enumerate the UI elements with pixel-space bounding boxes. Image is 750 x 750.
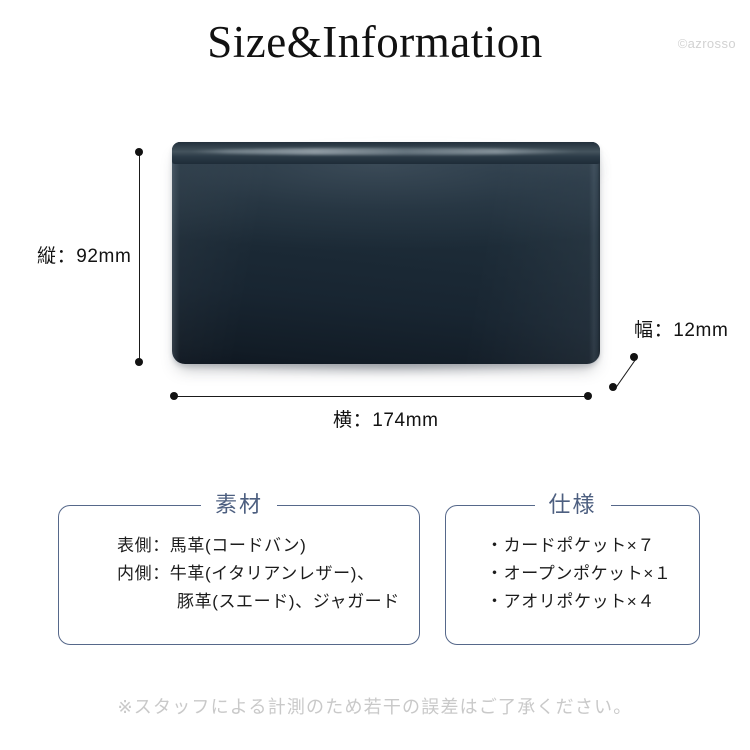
materials-title: 素材 bbox=[201, 490, 277, 520]
materials-list: 表側：馬革(コードバン) 内側：牛革(イタリアンレザー)、 豚革(スエード)、ジ… bbox=[59, 532, 425, 616]
wallet-fold-highlight bbox=[189, 148, 583, 155]
specs-line-3: ・アオリポケット×４ bbox=[446, 588, 699, 616]
wallet-body bbox=[172, 142, 600, 364]
materials-box: 素材 表側：馬革(コードバン) 内側：牛革(イタリアンレザー)、 豚革(スエード… bbox=[58, 505, 420, 645]
wallet-side-facet bbox=[589, 146, 600, 364]
specs-list: ・カードポケット×７ ・オープンポケット×１ ・アオリポケット×４ bbox=[446, 532, 699, 616]
specs-line-1: ・カードポケット×７ bbox=[446, 532, 699, 560]
materials-line-2: 内側：牛革(イタリアンレザー)、 bbox=[65, 560, 425, 588]
height-guide-dot-top bbox=[135, 148, 143, 156]
depth-guide-dot-near bbox=[609, 383, 617, 391]
measurement-disclaimer: ※スタッフによる計測のため若干の誤差はご了承ください。 bbox=[0, 694, 750, 720]
specs-line-2: ・オープンポケット×１ bbox=[446, 560, 699, 588]
page-title: Size&Information bbox=[0, 16, 750, 68]
product-photo bbox=[150, 128, 620, 388]
depth-guide-dot-far bbox=[630, 353, 638, 361]
wallet-left-edge bbox=[172, 148, 180, 364]
specs-box: 仕様 ・カードポケット×７ ・オープンポケット×１ ・アオリポケット×４ bbox=[445, 505, 700, 645]
width-guide-dot-right bbox=[584, 392, 592, 400]
materials-line-3: 豚革(スエード)、ジャガード bbox=[65, 588, 425, 616]
height-guide-dot-bottom bbox=[135, 358, 143, 366]
height-label: 縦：92mm bbox=[37, 245, 131, 269]
height-guide-line bbox=[139, 152, 140, 362]
wallet-top-fold bbox=[172, 142, 600, 164]
specs-title: 仕様 bbox=[534, 490, 610, 520]
width-label: 横：174mm bbox=[333, 409, 439, 433]
depth-label: 幅：12mm bbox=[634, 319, 728, 343]
width-guide-dot-left bbox=[170, 392, 178, 400]
width-guide-line bbox=[174, 396, 588, 397]
materials-line-1: 表側：馬革(コードバン) bbox=[65, 532, 425, 560]
size-information-page: Size&Information ©azrosso 縦：92mm 横：174mm… bbox=[0, 0, 750, 750]
watermark: ©azrosso bbox=[678, 36, 736, 51]
wallet-sheen bbox=[172, 164, 600, 284]
